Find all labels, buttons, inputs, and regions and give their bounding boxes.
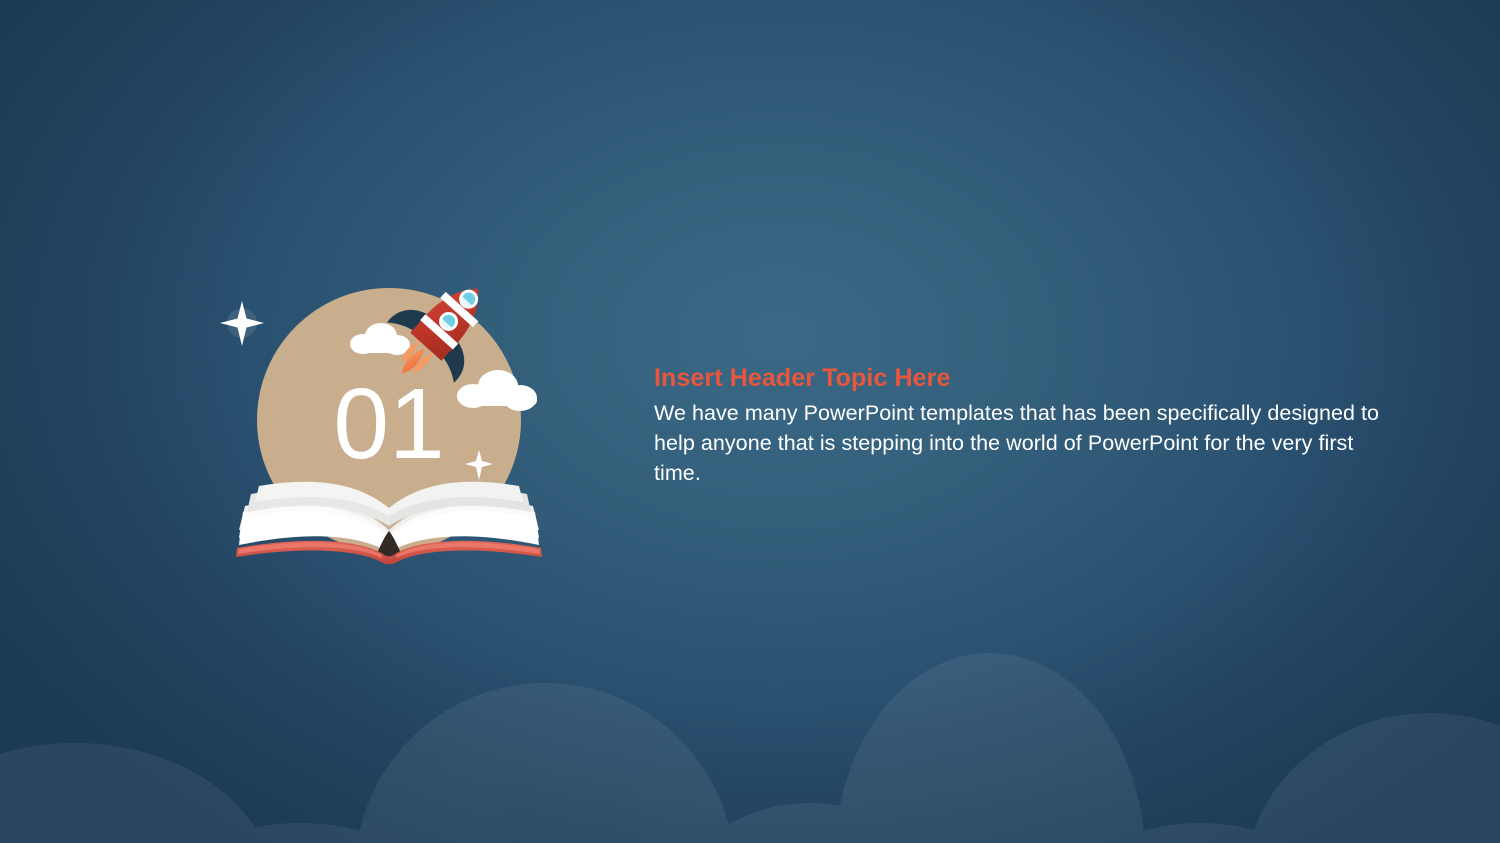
header-topic-title: Insert Header Topic Here: [654, 362, 1384, 394]
circle-number-label: 01: [333, 368, 444, 480]
star-icon-large: [220, 301, 264, 346]
book-rocket-illustration: 01: [215, 268, 560, 573]
body-paragraph: We have many PowerPoint templates that h…: [654, 398, 1384, 488]
text-content-block: Insert Header Topic Here We have many Po…: [654, 362, 1384, 488]
cloud-silhouette-background: [0, 583, 1500, 843]
slide-canvas: 01: [0, 0, 1500, 843]
